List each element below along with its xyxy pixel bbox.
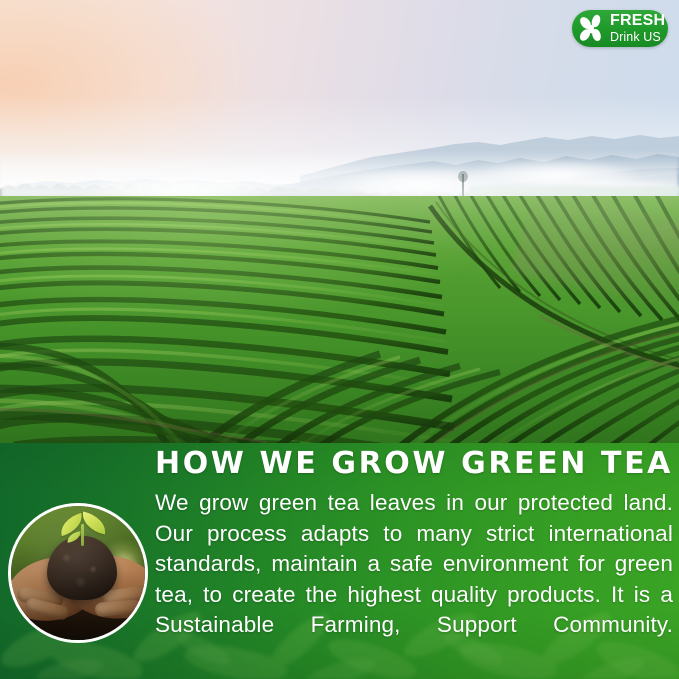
green-tea-infographic-poster: FRESH Drink US bbox=[0, 0, 679, 679]
fresh-drink-us-logo[interactable]: FRESH Drink US bbox=[572, 10, 668, 47]
page-title: HOW WE GROW GREEN TEA bbox=[155, 449, 673, 479]
seedling-stem bbox=[81, 524, 84, 546]
badge-line-fresh: FRESH bbox=[610, 13, 665, 29]
tea-field-rows bbox=[0, 196, 679, 446]
tea-plantation-photo bbox=[0, 0, 679, 446]
tea-row-lines bbox=[0, 196, 679, 446]
leaf-cluster-icon bbox=[577, 14, 609, 44]
banner-text-block: HOW WE GROW GREEN TEA We grow green tea … bbox=[155, 449, 673, 671]
badge-text-group: FRESH Drink US bbox=[610, 13, 665, 44]
badge-line-drink-us: Drink US bbox=[610, 31, 665, 44]
banner-body-text: We grow green tea leaves in our protecte… bbox=[155, 488, 673, 671]
hands-holding-seedling-photo bbox=[8, 503, 148, 643]
